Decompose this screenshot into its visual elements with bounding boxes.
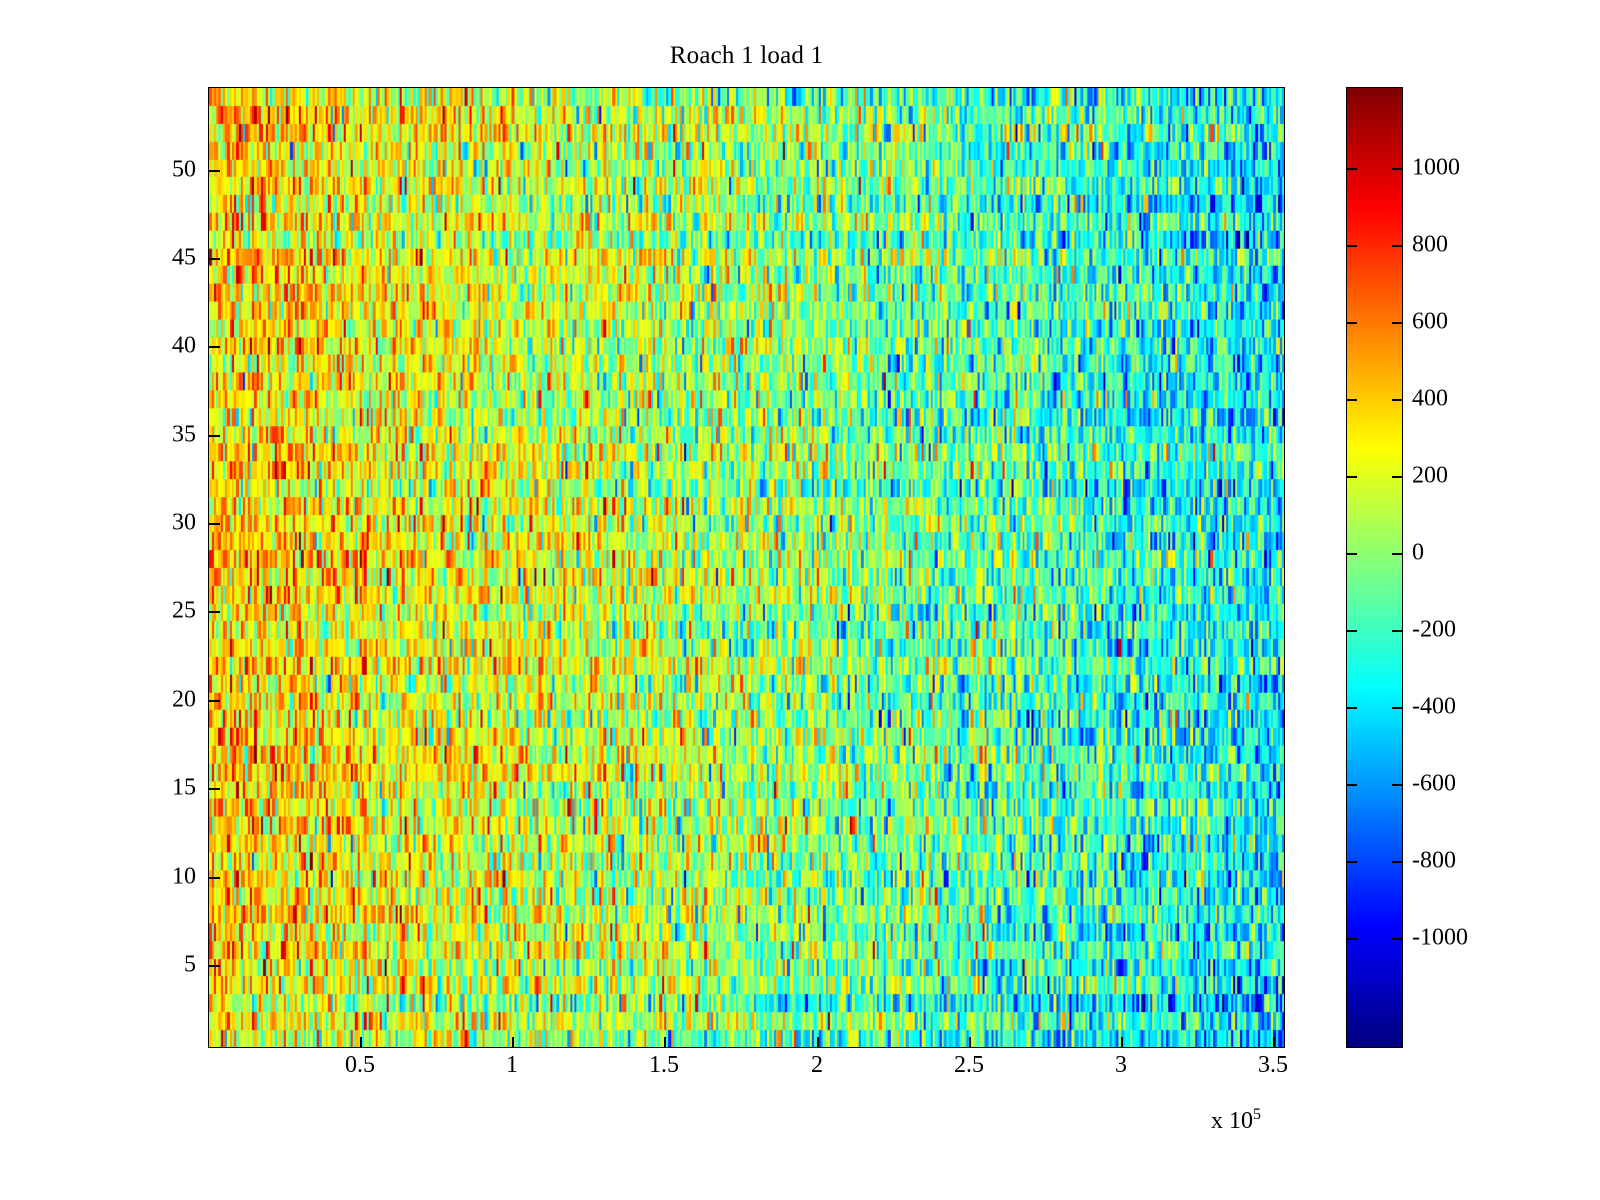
heatmap-image [209,88,1284,1047]
x-axis-tick-mark [1273,1037,1275,1048]
colorbar-tick-mark [1392,476,1402,478]
colorbar-tick-mark [1392,399,1402,401]
colorbar-tick-label: -1000 [1412,925,1468,952]
y-axis-tick-mark [209,523,220,525]
colorbar-tick-mark [1392,861,1402,863]
x-axis-tick-mark [664,1037,666,1048]
y-axis-tick-mark [209,346,220,348]
colorbar-tick-mark [1392,784,1402,786]
y-axis-tick-label: 10 [136,864,196,891]
colorbar-tick-mark [1347,245,1357,247]
y-axis-tick-mark [209,170,220,172]
y-axis-tick-label: 20 [136,687,196,714]
x-axis-tick-label: 0.5 [300,1052,420,1079]
heatmap-plot-area[interactable] [208,87,1285,1048]
x-axis-tick-mark [969,1037,971,1048]
colorbar-tick-mark [1392,630,1402,632]
colorbar-tick-mark [1347,630,1357,632]
colorbar-tick-mark [1392,322,1402,324]
colorbar-tick-label: -800 [1412,848,1456,875]
colorbar-tick-label: 800 [1412,232,1448,259]
x-axis-tick-label: 1.5 [604,1052,724,1079]
colorbar-gradient [1347,88,1402,1047]
x-axis-tick-label: 2 [757,1052,877,1079]
colorbar-tick-label: 600 [1412,309,1448,336]
colorbar-tick-label: -600 [1412,771,1456,798]
y-axis-tick-label: 40 [136,333,196,360]
figure-window: Roach 1 load 1 5045403530252015105 0.511… [0,0,1600,1200]
colorbar-tick-mark [1392,707,1402,709]
x-axis-tick-mark [360,1037,362,1048]
x-axis-tick-mark [512,1037,514,1048]
x-axis-tick-mark [817,1037,819,1048]
colorbar-tick-mark [1347,553,1357,555]
x-axis-exponent-label: x 105 [1211,1106,1261,1135]
y-axis-tick-label: 45 [136,245,196,272]
colorbar-tick-label: -400 [1412,694,1456,721]
y-axis-tick-mark [209,965,220,967]
y-axis-tick-mark [209,258,220,260]
colorbar-tick-label: 0 [1412,540,1424,567]
x-axis-tick-label: 1 [452,1052,572,1079]
y-axis-tick-label: 25 [136,598,196,625]
colorbar-tick-label: 400 [1412,386,1448,413]
x-axis-exponent-base: x 10 [1211,1108,1253,1134]
colorbar-tick-mark [1392,553,1402,555]
colorbar-tick-label: 1000 [1412,155,1460,182]
colorbar-tick-label: -200 [1412,617,1456,644]
y-axis-tick-label: 50 [136,157,196,184]
x-axis-tick-label: 3.5 [1213,1052,1333,1079]
colorbar-tick-mark [1347,322,1357,324]
colorbar-tick-mark [1347,476,1357,478]
colorbar-tick-mark [1392,245,1402,247]
colorbar-tick-mark [1347,861,1357,863]
y-axis-tick-label: 35 [136,422,196,449]
y-axis-tick-label: 15 [136,775,196,802]
y-axis-tick-label: 30 [136,510,196,537]
x-axis-tick-label: 3 [1061,1052,1181,1079]
colorbar-tick-label: 200 [1412,463,1448,490]
y-axis-tick-mark [209,700,220,702]
x-axis-exponent-power: 5 [1253,1106,1261,1123]
x-axis-tick-mark [1121,1037,1123,1048]
y-axis-tick-mark [209,435,220,437]
y-axis-tick-mark [209,611,220,613]
x-axis-tick-label: 2.5 [909,1052,1029,1079]
y-axis-tick-mark [209,788,220,790]
colorbar-tick-mark [1347,707,1357,709]
colorbar-tick-mark [1347,784,1357,786]
colorbar-tick-mark [1347,399,1357,401]
page-title: Roach 1 load 1 [0,42,1493,70]
y-axis-tick-mark [209,877,220,879]
colorbar-tick-mark [1347,168,1357,170]
y-axis-tick-label: 5 [136,952,196,979]
colorbar-tick-mark [1347,938,1357,940]
colorbar-tick-mark [1392,168,1402,170]
colorbar-tick-mark [1392,938,1402,940]
colorbar[interactable] [1346,87,1403,1048]
